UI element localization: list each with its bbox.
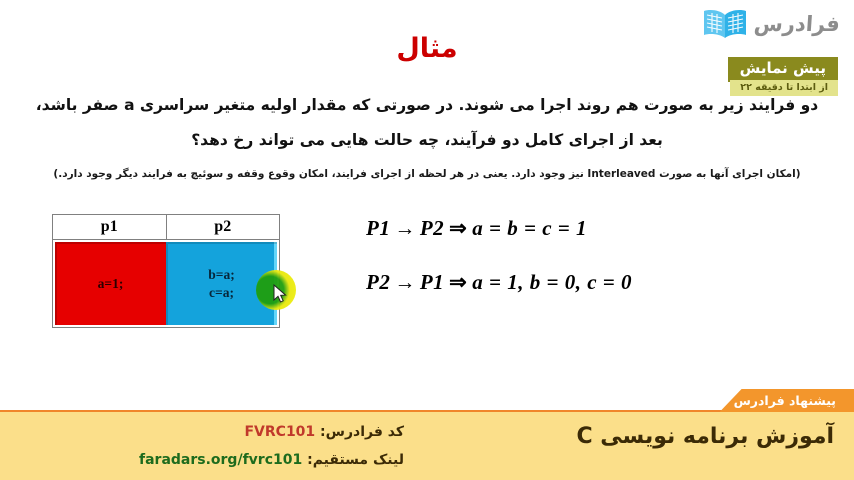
slide-canvas: فرادرس پیش نمایش از ابتدا تا دقیقه ۲۲ <box>0 0 854 480</box>
equation-1: P1→P2⇒a = b = c = 1 <box>366 216 587 241</box>
process-table-body: a=1; b=a; c=a; <box>53 240 279 327</box>
table-header-p2: p2 <box>167 215 280 239</box>
equation-2: P2→P1⇒a = 1, b = 0, c = 0 <box>366 270 632 295</box>
promo-code-label: کد فرادرس: <box>320 424 404 440</box>
process-table-header: p1 p2 <box>53 215 279 240</box>
promo-link-value[interactable]: faradars.org/fvrc101 <box>139 452 302 468</box>
promo-direct-link[interactable]: لینک مستقیم: faradars.org/fvrc101 <box>0 452 420 468</box>
page-title: مثال <box>0 33 854 64</box>
promo-bar: پیشنهاد فرادرس آموزش برنامه نویسی C کد ف… <box>0 410 854 480</box>
equation-result: a = b = c = 1 <box>472 216 587 240</box>
table-header-p1: p1 <box>53 215 167 239</box>
equation-implies-icon: ⇒ <box>449 216 467 240</box>
mouse-cursor-icon <box>273 284 287 304</box>
equation-result: a = 1, b = 0, c = 0 <box>472 270 632 294</box>
equation-left: P2 <box>366 270 390 294</box>
promo-link-label: لینک مستقیم: <box>307 452 404 468</box>
equation-right: P2 <box>420 216 444 240</box>
process-table: p1 p2 a=1; b=a; c=a; <box>52 214 280 328</box>
preview-badge-duration: از ابتدا تا دقیقه ۲۲ <box>730 80 838 96</box>
equation-implies-icon: ⇒ <box>449 270 467 294</box>
equation-right: P1 <box>420 270 444 294</box>
promo-course-title: آموزش برنامه نویسی C <box>576 424 834 449</box>
equation-arrow-icon: → <box>394 216 416 240</box>
question-note: (امکان اجرای آنها به صورت Interleaved نی… <box>0 168 854 180</box>
promo-course-code: کد فرادرس: FVRC101 <box>0 424 420 440</box>
process-cell-p2: b=a; c=a; <box>166 242 277 325</box>
equation-left: P1 <box>366 216 390 240</box>
question-line-1: دو فرایند زیر به صورت هم روند اجرا می شو… <box>0 96 854 114</box>
promo-ribbon: پیشنهاد فرادرس <box>720 389 854 412</box>
code-line: a=1; <box>98 275 124 292</box>
equation-arrow-icon: → <box>394 270 416 294</box>
code-line: c=a; <box>209 284 234 301</box>
promo-code-value: FVRC101 <box>244 424 315 440</box>
code-line: b=a; <box>208 266 234 283</box>
process-cell-p1: a=1; <box>55 242 166 325</box>
question-line-2: بعد از اجرای کامل دو فرآیند، چه حالت های… <box>0 131 854 149</box>
